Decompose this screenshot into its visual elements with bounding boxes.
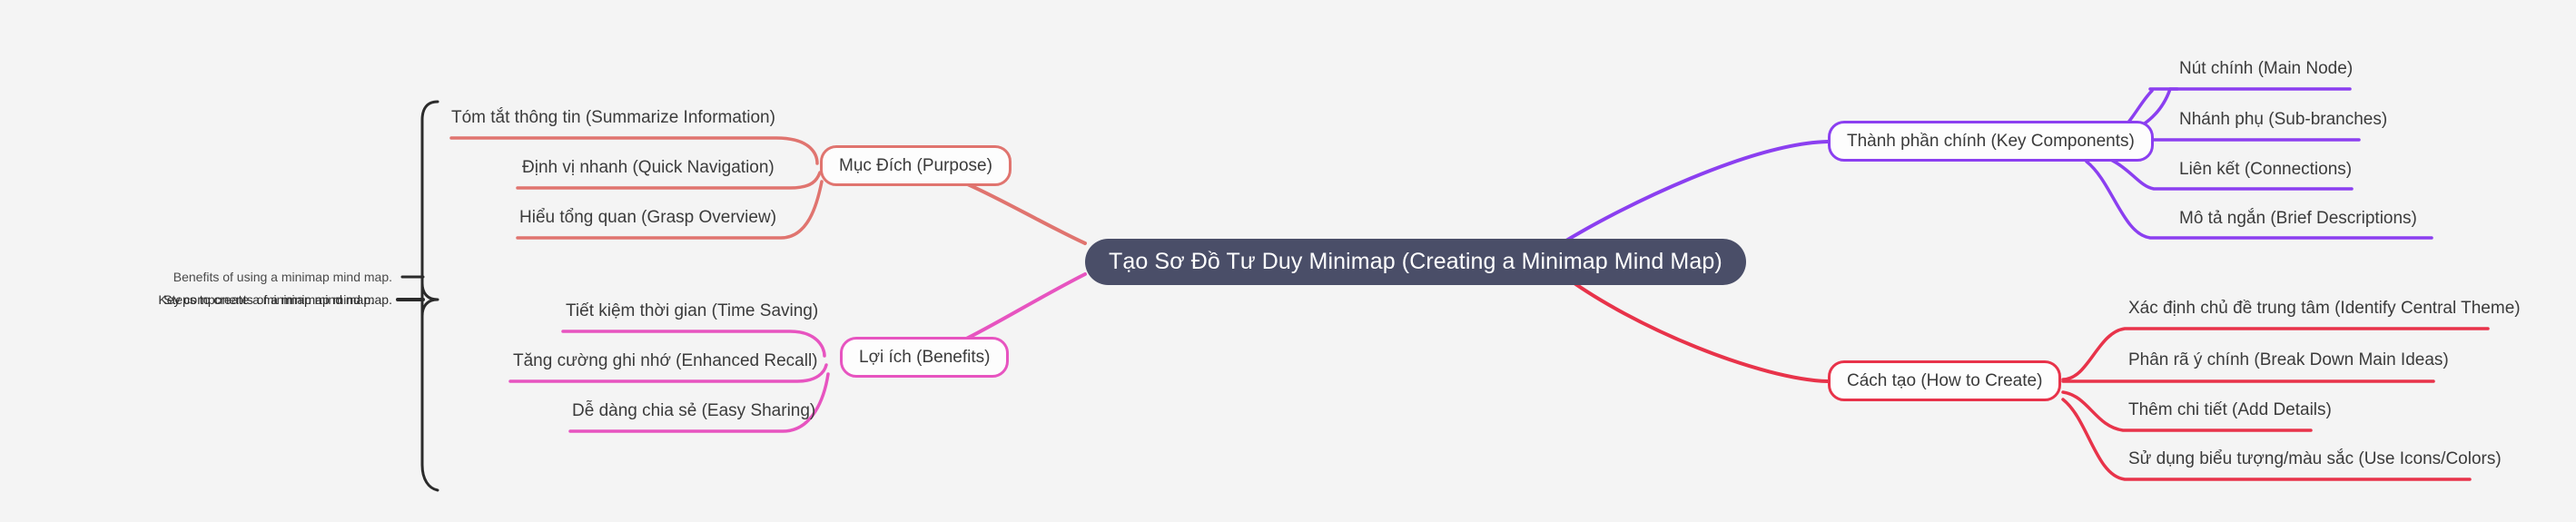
leaf-break-down-main-ideas[interactable]: Phân rã ý chính (Break Down Main Ideas) (2128, 351, 2449, 369)
leaf-brief-descriptions[interactable]: Mô tả ngắn (Brief Descriptions) (2179, 210, 2417, 227)
leaf-sub-branches[interactable]: Nhánh phụ (Sub-branches) (2179, 111, 2387, 128)
link-root-to-key-components (1562, 142, 1828, 243)
boundary-label-steps: Steps to create a minimap mind map. (0, 293, 374, 306)
leaf-quick-navigation[interactable]: Định vị nhanh (Quick Navigation) (522, 159, 775, 176)
leaf-grasp-overview[interactable]: Hiểu tổng quan (Grasp Overview) (519, 209, 776, 226)
leaf-connections[interactable]: Liên kết (Connections) (2179, 161, 2352, 178)
boundary-bracket-mid (422, 283, 438, 316)
leaf-enhanced-recall[interactable]: Tăng cường ghi nhớ (Enhanced Recall) (513, 352, 818, 369)
leaf-summarize-information[interactable]: Tóm tắt thông tin (Summarize Information… (451, 109, 775, 126)
link-root-to-how-to-create (1562, 274, 1828, 381)
leaf-main-node[interactable]: Nút chính (Main Node) (2179, 60, 2353, 77)
branch-node-how-to-create[interactable]: Cách tạo (How to Create) (1828, 360, 2061, 401)
branch-node-benefits[interactable]: Lợi ích (Benefits) (840, 337, 1009, 378)
leaf-add-details[interactable]: Thêm chi tiết (Add Details) (2128, 401, 2332, 419)
leaf-easy-sharing[interactable]: Dễ dàng chia sẻ (Easy Sharing) (572, 402, 815, 419)
leaf-identify-central-theme[interactable]: Xác định chủ đề trung tâm (Identify Cent… (2128, 300, 2521, 317)
root-node[interactable]: Tạo Sơ Đồ Tư Duy Minimap (Creating a Min… (1085, 239, 1746, 285)
branch-node-key-components[interactable]: Thành phần chính (Key Components) (1828, 121, 2154, 162)
mindmap-canvas: Tạo Sơ Đồ Tư Duy Minimap (Creating a Min… (0, 0, 2576, 522)
boundary-bracket (422, 102, 438, 490)
leaf-use-icons-colors[interactable]: Sử dụng biểu tượng/màu sắc (Use Icons/Co… (2128, 450, 2502, 468)
boundary-label-benefits: Benefits of using a minimap mind map. (0, 271, 392, 283)
branch-node-purpose[interactable]: Mục Đích (Purpose) (820, 145, 1012, 186)
leaf-time-saving[interactable]: Tiết kiệm thời gian (Time Saving) (566, 302, 818, 320)
